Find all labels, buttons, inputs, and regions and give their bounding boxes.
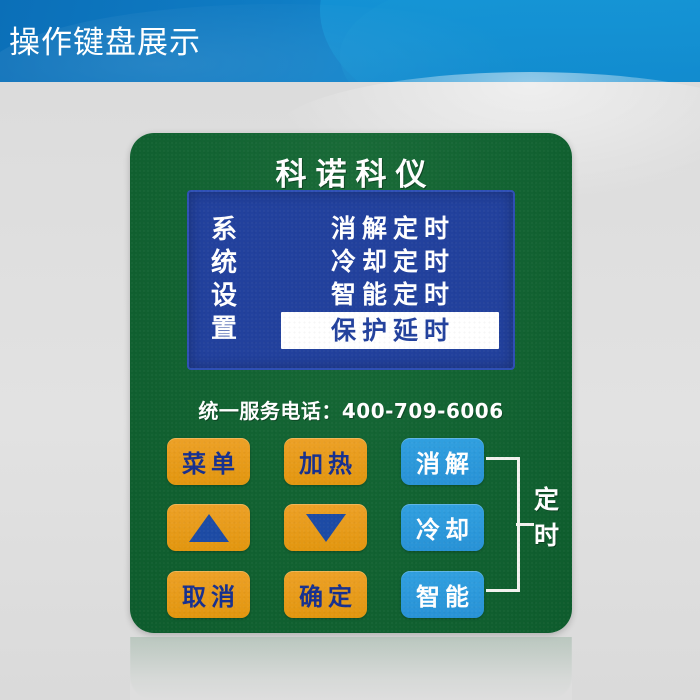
keypad-panel: 科诺科仪 系 统 设 置 消解定时 冷却定时 智能定时 保护延时 统一服务电话：… xyxy=(130,133,572,633)
lcd-menu-list: 消解定时 冷却定时 智能定时 保护延时 xyxy=(281,212,513,349)
cool-button[interactable]: 冷却 xyxy=(401,504,484,551)
arrow-up-button[interactable] xyxy=(167,504,250,551)
bracket-top-arm xyxy=(486,457,520,460)
lcd-side-label: 系 统 设 置 xyxy=(189,214,281,346)
triangle-down-icon xyxy=(306,514,346,542)
lcd-side-char-3: 置 xyxy=(211,313,281,346)
confirm-button[interactable]: 确定 xyxy=(284,571,367,618)
heat-button[interactable]: 加热 xyxy=(284,438,367,485)
menu-button[interactable]: 菜单 xyxy=(167,438,250,485)
page-header-banner: 操作键盘展示 xyxy=(0,0,700,82)
arrow-down-button[interactable] xyxy=(284,504,367,551)
page-title: 操作键盘展示 xyxy=(9,22,201,64)
lcd-display: 系 统 设 置 消解定时 冷却定时 智能定时 保护延时 xyxy=(187,190,515,370)
triangle-up-icon xyxy=(189,514,229,542)
lcd-menu-item[interactable]: 冷却定时 xyxy=(281,245,499,278)
lcd-menu-item[interactable]: 消解定时 xyxy=(281,212,499,245)
keypad-button-grid: 菜单 加热 消解 冷却 取消 确定 智能 定时 xyxy=(130,433,572,623)
lcd-side-char-0: 系 xyxy=(211,214,281,247)
digest-button[interactable]: 消解 xyxy=(401,438,484,485)
lcd-side-char-1: 统 xyxy=(211,247,281,280)
service-phone-line: 统一服务电话：400-709-6006 xyxy=(130,395,572,424)
brand-title: 科诺科仪 xyxy=(130,149,572,194)
cancel-button[interactable]: 取消 xyxy=(167,571,250,618)
lcd-menu-item[interactable]: 智能定时 xyxy=(281,278,499,311)
timer-group-label: 定时 xyxy=(534,480,572,552)
timer-group-bracket xyxy=(486,457,520,592)
smart-button[interactable]: 智能 xyxy=(401,571,484,618)
lcd-side-char-2: 设 xyxy=(211,280,281,313)
bracket-middle-arm xyxy=(516,523,534,526)
lcd-menu-item-selected[interactable]: 保护延时 xyxy=(281,312,499,349)
bracket-bottom-arm xyxy=(486,589,520,592)
